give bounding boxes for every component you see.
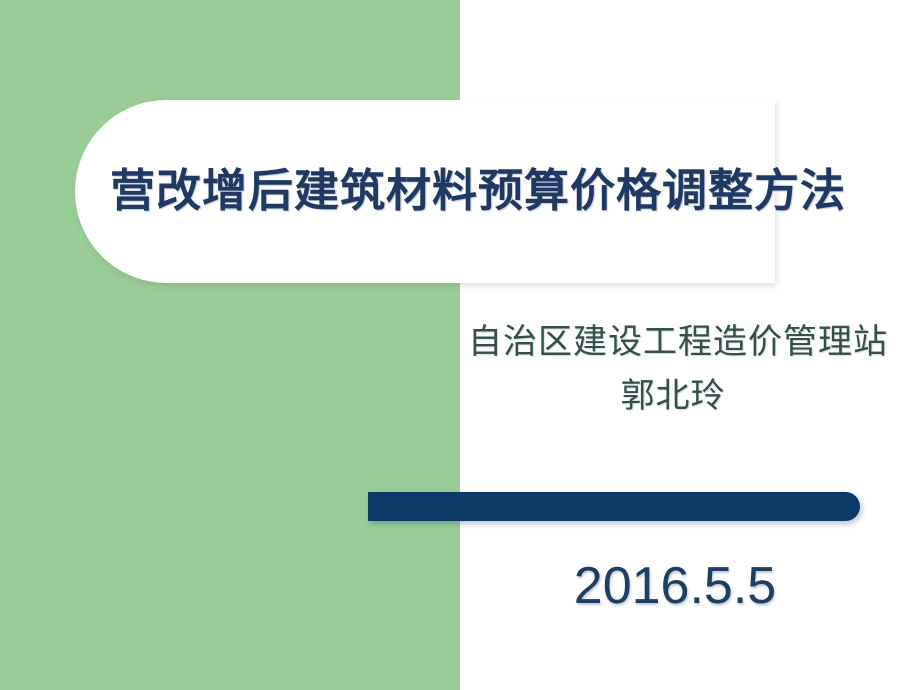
subtitle-line-organization: 自治区建设工程造价管理站 xyxy=(468,316,878,370)
presentation-slide: 营改增后建筑材料预算价格调整方法 自治区建设工程造价管理站 郭北玲 2016.5… xyxy=(0,0,920,690)
subtitle-line-presenter: 郭北玲 xyxy=(468,370,878,424)
navy-accent-bar xyxy=(368,492,860,521)
slide-subtitle: 自治区建设工程造价管理站 郭北玲 xyxy=(468,316,878,424)
slide-title: 营改增后建筑材料预算价格调整方法 xyxy=(110,162,870,220)
slide-date: 2016.5.5 xyxy=(470,556,880,616)
